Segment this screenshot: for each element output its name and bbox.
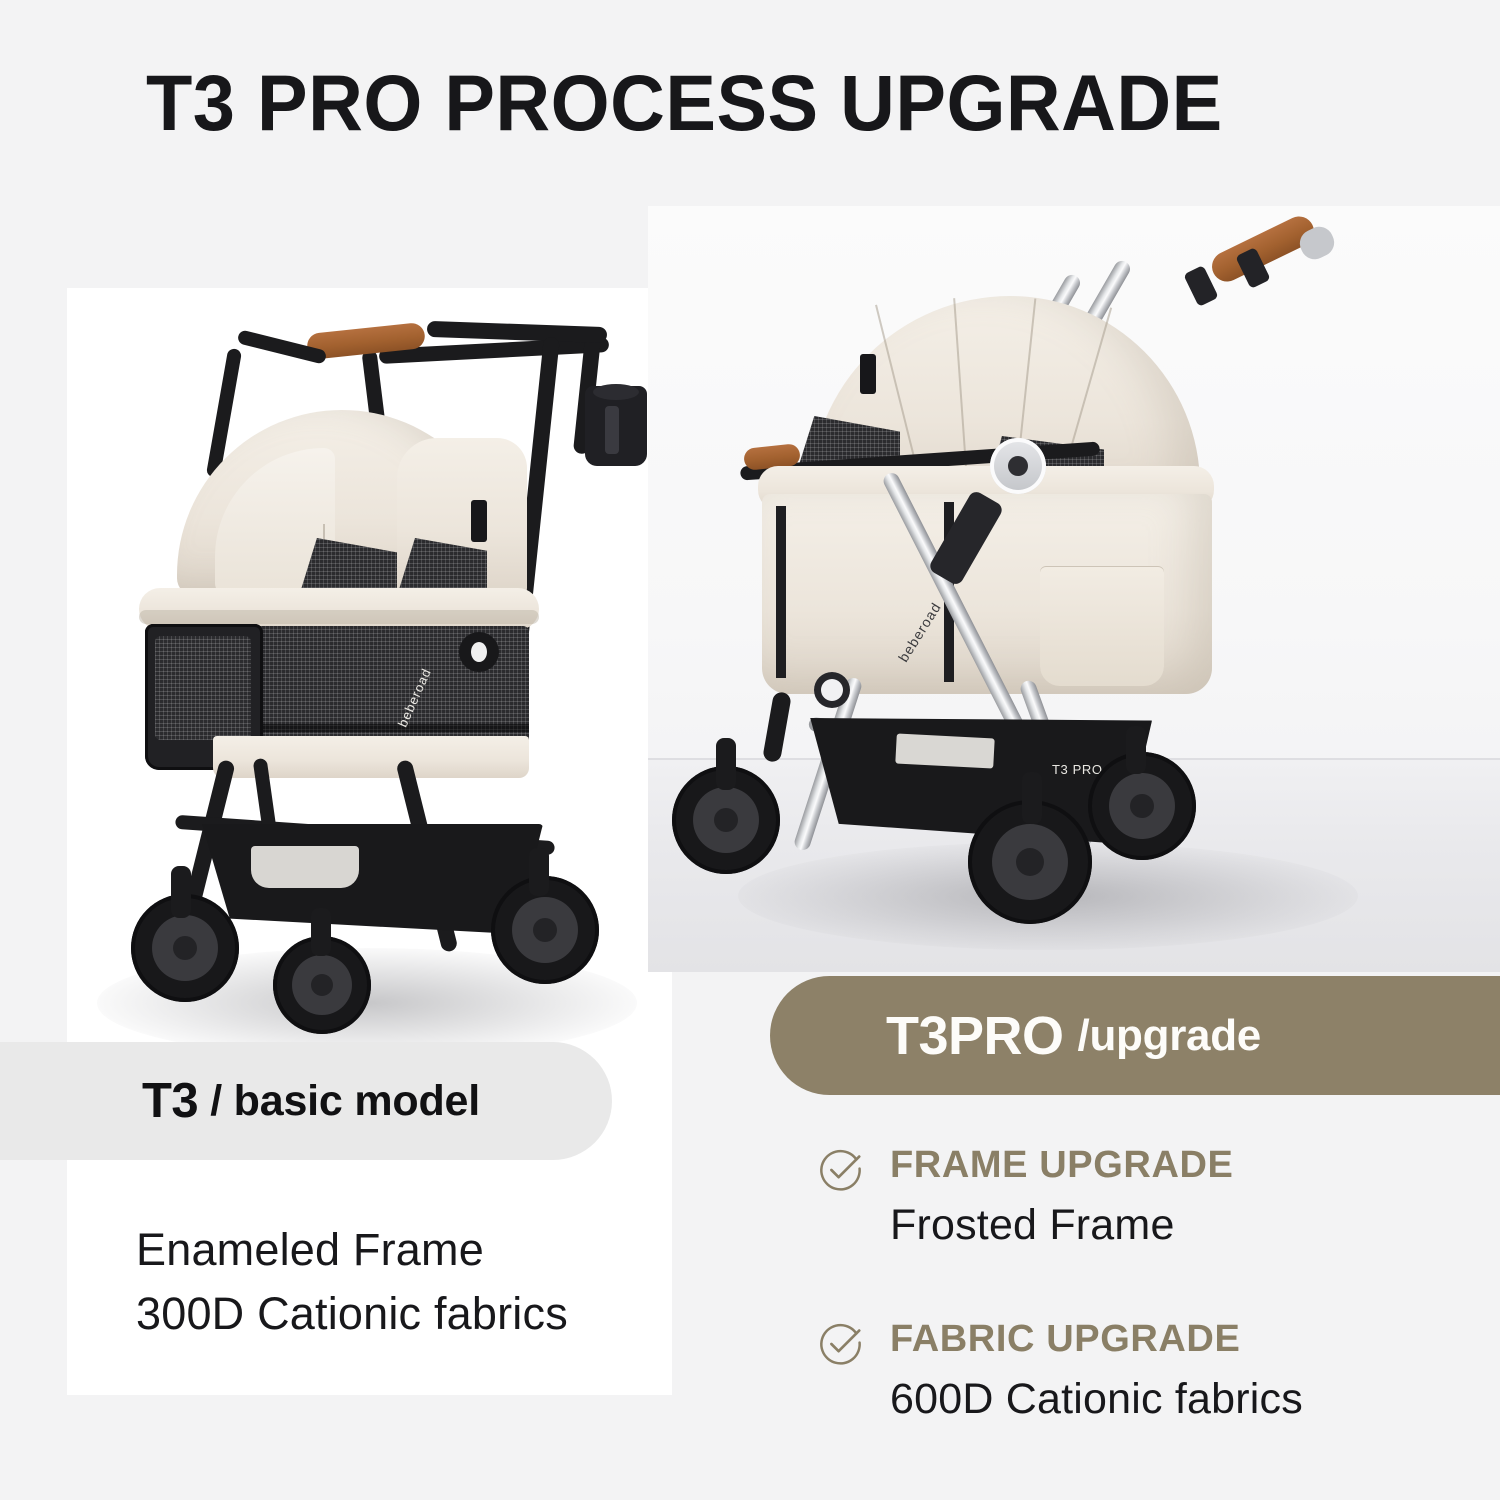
right-product-image: beberoad T3 PRO	[648, 206, 1500, 972]
t3-spec-fabric: 300D Cationic fabrics	[136, 1282, 676, 1346]
feature-subtitle-frame: Frosted Frame	[890, 1195, 1233, 1255]
t3-basic-label-pill: T3 / basic model	[0, 1042, 612, 1160]
t3pro-model-code: T3PRO	[886, 1005, 1064, 1067]
basket-model-label: T3 PRO	[1052, 762, 1103, 777]
t3-model-code: T3	[142, 1073, 198, 1129]
feature-text-frame: FRAME UPGRADE Frosted Frame	[890, 1143, 1233, 1255]
basket-liner-patch	[895, 733, 994, 768]
hinge-center	[1008, 456, 1028, 476]
infographic-canvas: T3 PRO PROCESS UPGRADE	[0, 0, 1500, 1500]
carriage-rim-shade	[139, 610, 539, 624]
t3pro-upgrade-label-pill: T3PRO /upgrade	[770, 976, 1500, 1095]
lock-ring	[814, 672, 850, 708]
feature-title-fabric: FABRIC UPGRADE	[890, 1317, 1303, 1361]
fork-front-left	[311, 908, 331, 956]
t3-model-description: / basic model	[210, 1077, 480, 1126]
side-pocket-mesh	[155, 636, 251, 740]
check-circle-icon	[818, 1321, 864, 1367]
storage-basket	[195, 824, 543, 934]
t3pro-feature-list: FRAME UPGRADE Frosted Frame FABRIC UPGRA…	[818, 1143, 1458, 1491]
feature-title-frame: FRAME UPGRADE	[890, 1143, 1233, 1187]
page-title: T3 PRO PROCESS UPGRADE	[146, 57, 1223, 149]
feature-row-fabric: FABRIC UPGRADE 600D Cationic fabrics	[818, 1317, 1458, 1429]
t3-spec-list: Enameled Frame 300D Cationic fabrics	[136, 1218, 676, 1346]
front-handle-top	[427, 321, 607, 343]
cup-holder-slot	[605, 406, 619, 454]
basket-liner-patch	[251, 846, 359, 888]
frame-badge-glyph	[471, 642, 487, 662]
t3-spec-frame: Enameled Frame	[136, 1218, 676, 1282]
check-circle-icon	[818, 1147, 864, 1193]
cup-holder-rim	[593, 384, 639, 400]
feature-text-fabric: FABRIC UPGRADE 600D Cationic fabrics	[890, 1317, 1303, 1429]
canopy-brand-tag	[471, 500, 487, 542]
fork-front-right	[1022, 772, 1042, 824]
fork-rear-left	[171, 866, 191, 918]
front-fork-post	[762, 691, 792, 763]
feature-row-frame: FRAME UPGRADE Frosted Frame	[818, 1143, 1458, 1255]
fork-rear-right	[1126, 726, 1146, 774]
canopy-brand-tag	[860, 354, 876, 394]
fork-rear-right	[529, 848, 549, 896]
carriage-side-pocket	[1040, 566, 1164, 686]
carriage-strap-left	[776, 506, 786, 678]
t3pro-model-description: /upgrade	[1078, 1011, 1261, 1061]
feature-subtitle-fabric: 600D Cationic fabrics	[890, 1369, 1303, 1429]
fork-front-left	[716, 738, 736, 790]
